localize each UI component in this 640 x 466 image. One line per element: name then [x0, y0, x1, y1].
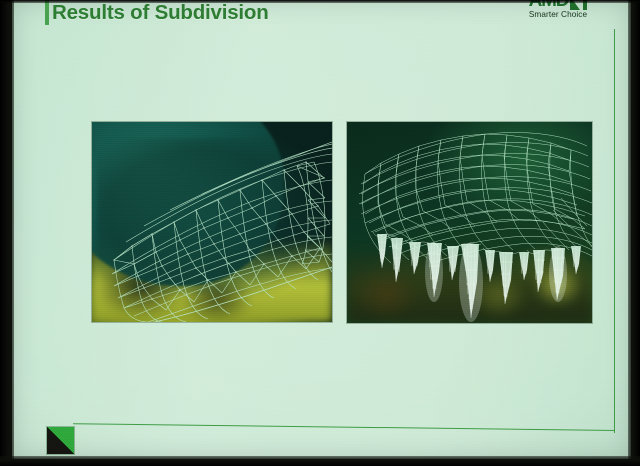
- page-title: Results of Subdivision: [52, 0, 269, 26]
- subdivided-mesh-wireframe: [347, 122, 592, 323]
- title-accent-bar: [45, 0, 49, 25]
- bezel-left: [0, 0, 14, 466]
- bezel-top: [0, 0, 640, 3]
- slide-surface: Results of Subdivision AMD Smarter Choic…: [12, 0, 631, 459]
- corner-square-mark: [47, 427, 74, 454]
- projected-slide-photo: Results of Subdivision AMD Smarter Choic…: [0, 0, 640, 466]
- amd-logo: AMD Smarter Choice: [512, 0, 604, 20]
- bezel-bottom: [0, 456, 640, 466]
- frame-vertical-rule: [614, 29, 615, 433]
- bezel-right: [628, 0, 640, 466]
- figure-subdivided-mesh: [347, 122, 592, 323]
- frame-horizontal-rule: [73, 423, 615, 431]
- amd-tagline: Smarter Choice: [512, 10, 604, 20]
- coarse-mesh-wireframe: [92, 122, 332, 322]
- figure-coarse-mesh: [92, 122, 332, 322]
